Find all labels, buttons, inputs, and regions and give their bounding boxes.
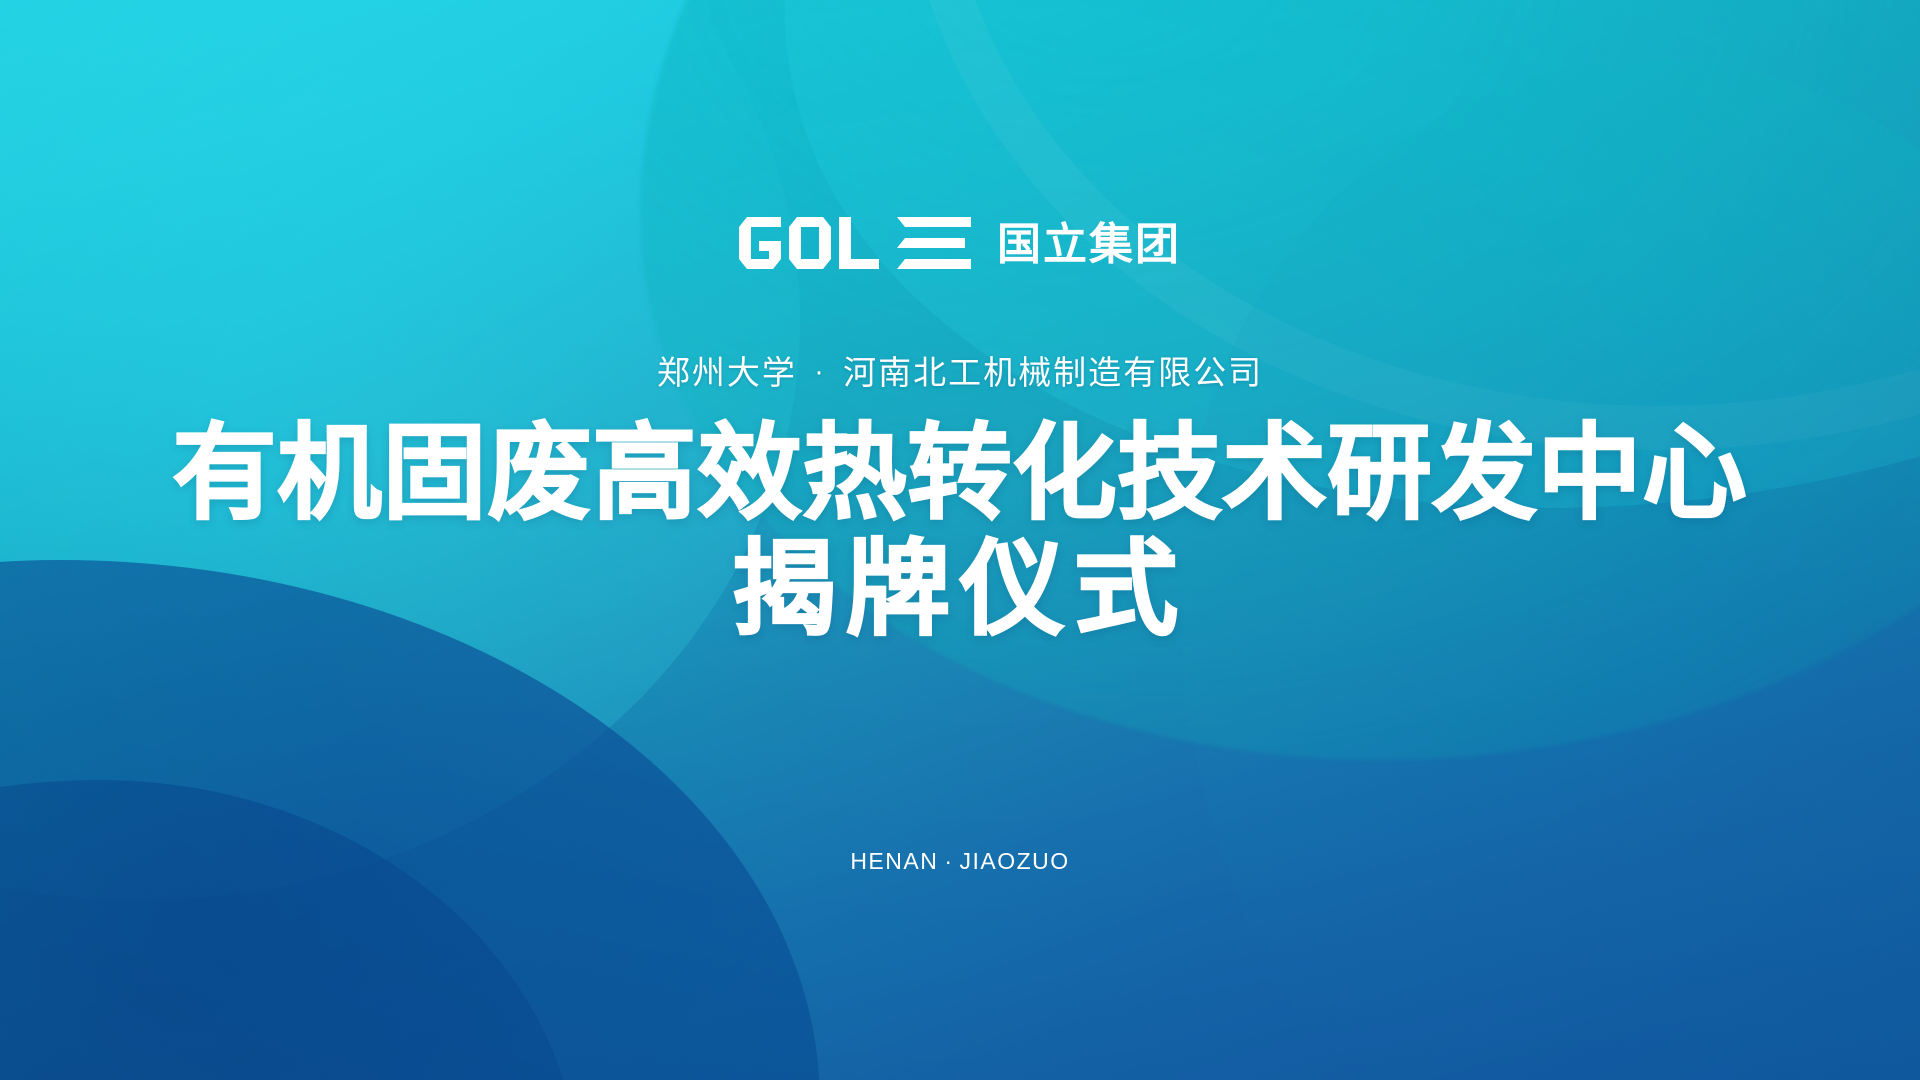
partner-organisations: 郑州大学·河南北工机械制造有限公司: [657, 356, 1263, 389]
page-title: 有机固废高效热转化技术研发中心 揭牌仪式: [172, 415, 1747, 648]
event-title-slide: 国立集团 郑州大学·河南北工机械制造有限公司 有机固废高效热转化技术研发中心 揭…: [0, 0, 1920, 1080]
slide-content: 国立集团 郑州大学·河南北工机械制造有限公司 有机固废高效热转化技术研发中心 揭…: [0, 0, 1920, 1080]
partner-separator-dot: ·: [797, 361, 843, 387]
partner-right-label: 河南北工机械制造有限公司: [843, 353, 1263, 392]
page-title-line-1: 有机固废高效热转化技术研发中心: [172, 415, 1747, 531]
partner-left-label: 郑州大学: [657, 353, 797, 392]
page-title-line-2: 揭牌仪式: [172, 531, 1747, 647]
logo-chinese-name: 国立集团: [997, 223, 1181, 267]
gole-logo-icon: [739, 217, 971, 274]
brand-logo-lockup: 国立集团: [739, 218, 1181, 272]
